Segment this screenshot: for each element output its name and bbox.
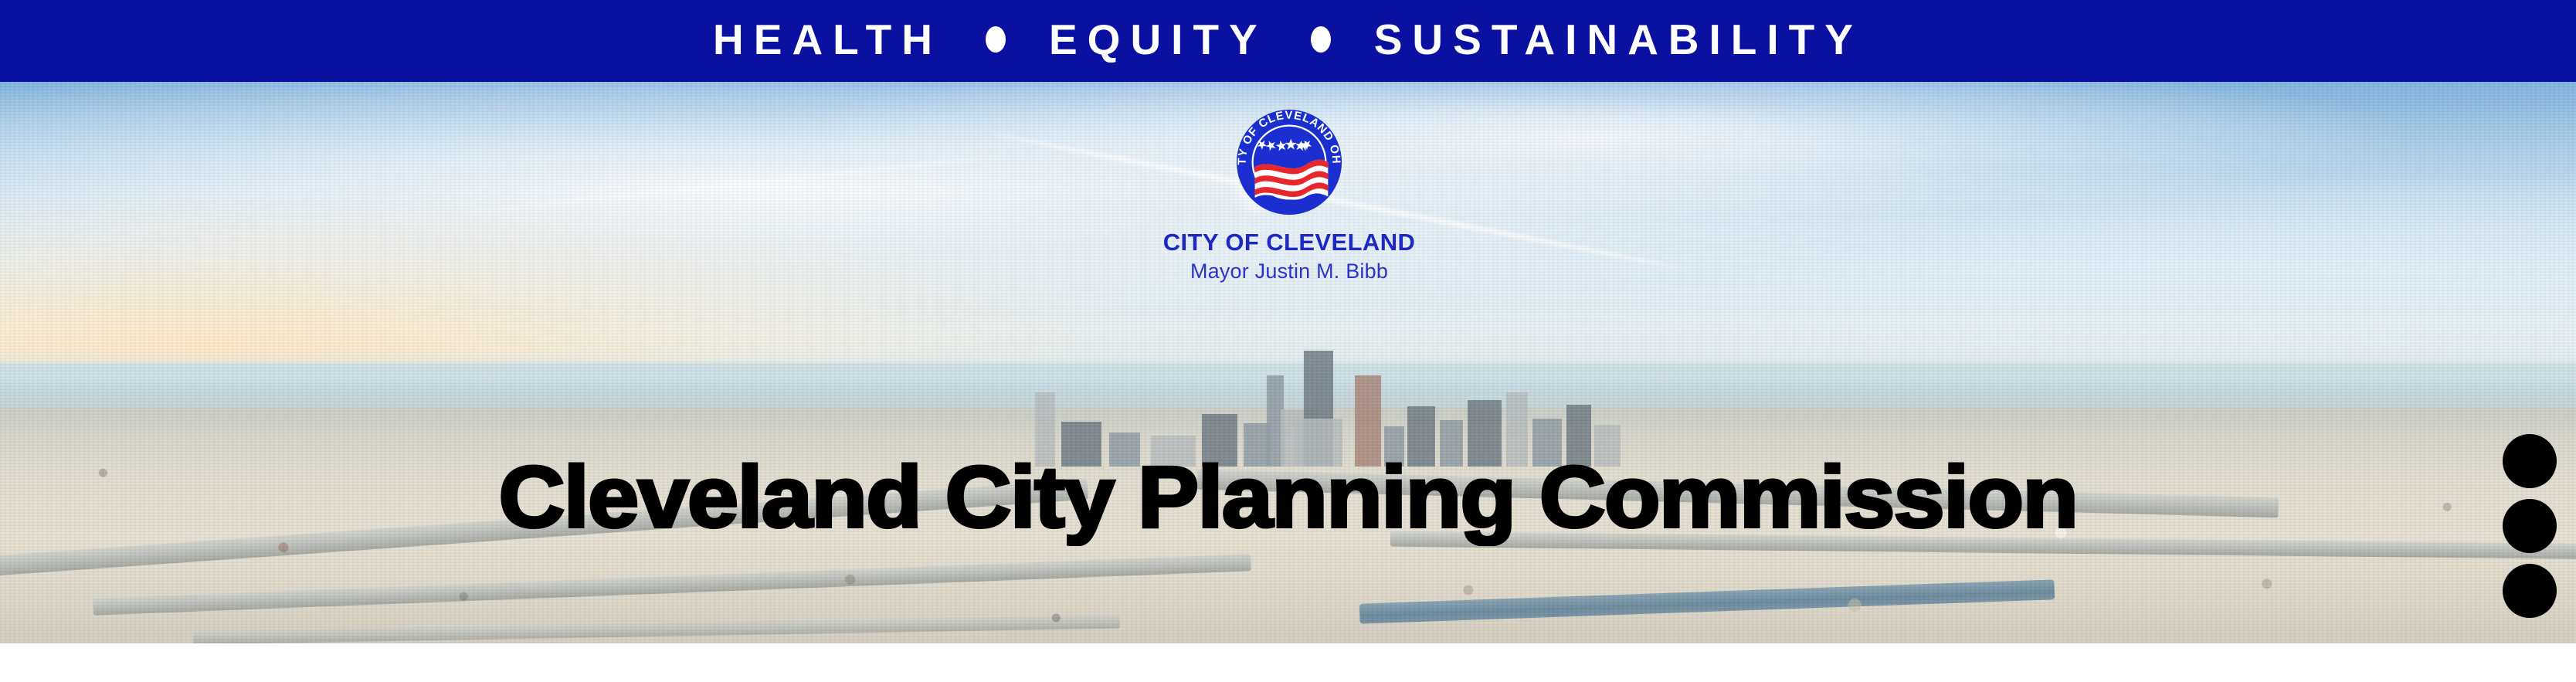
city-wordmark: CITY OF CLEVELAND — [1119, 230, 1459, 254]
tagline-word-sustainability: SUSTAINABILITY — [1374, 19, 1863, 61]
city-branding-block: CITY OF CLEVELAND OHIO CITY — [1119, 105, 1459, 282]
page-root: HEALTH EQUITY SUSTAINABILITY — [0, 0, 2576, 682]
instagram-icon — [2513, 509, 2547, 543]
facebook-link[interactable] — [2503, 564, 2557, 618]
bullet-dot-icon — [1311, 26, 1331, 53]
tagline-word-health: HEALTH — [713, 19, 942, 61]
youtube-link[interactable] — [2503, 434, 2557, 488]
tagline-word-equity: EQUITY — [1049, 19, 1268, 61]
city-of-cleveland-seal: CITY OF CLEVELAND OHIO — [1213, 105, 1366, 219]
tagline-banner: HEALTH EQUITY SUSTAINABILITY — [0, 0, 2576, 82]
facebook-icon — [2513, 574, 2547, 608]
bullet-dot-icon — [986, 26, 1006, 53]
social-links — [2503, 434, 2557, 618]
instagram-link[interactable] — [2503, 499, 2557, 553]
bottom-white-strip — [0, 643, 2576, 682]
youtube-icon — [2513, 444, 2547, 478]
page-title: Cleveland City Planning Commission — [0, 454, 2576, 541]
mayor-name: Mayor Justin M. Bibb — [1119, 261, 1459, 282]
tagline-banner-inner: HEALTH EQUITY SUSTAINABILITY — [713, 19, 1863, 61]
